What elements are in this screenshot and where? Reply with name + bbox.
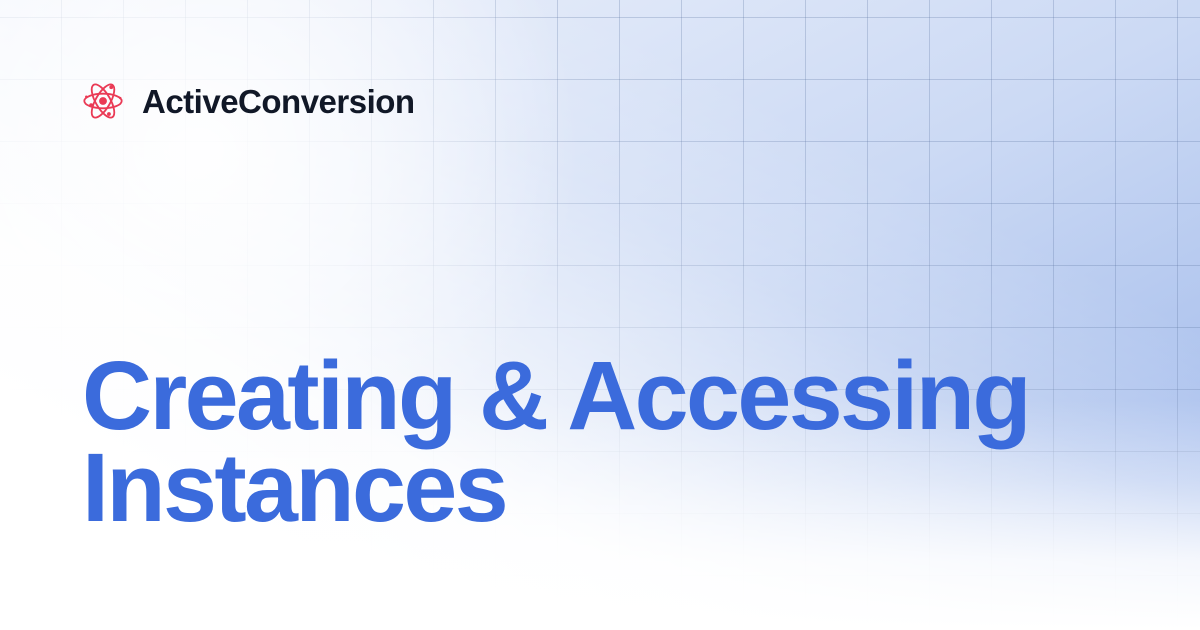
banner-content: ActiveConversion Creating & Accessing In… xyxy=(0,0,1200,630)
atom-icon xyxy=(80,78,126,124)
page-title: Creating & Accessing Instances xyxy=(82,350,1092,534)
brand-name: ActiveConversion xyxy=(142,85,415,118)
brand-lockup: ActiveConversion xyxy=(80,78,415,124)
og-banner: ActiveConversion Creating & Accessing In… xyxy=(0,0,1200,630)
